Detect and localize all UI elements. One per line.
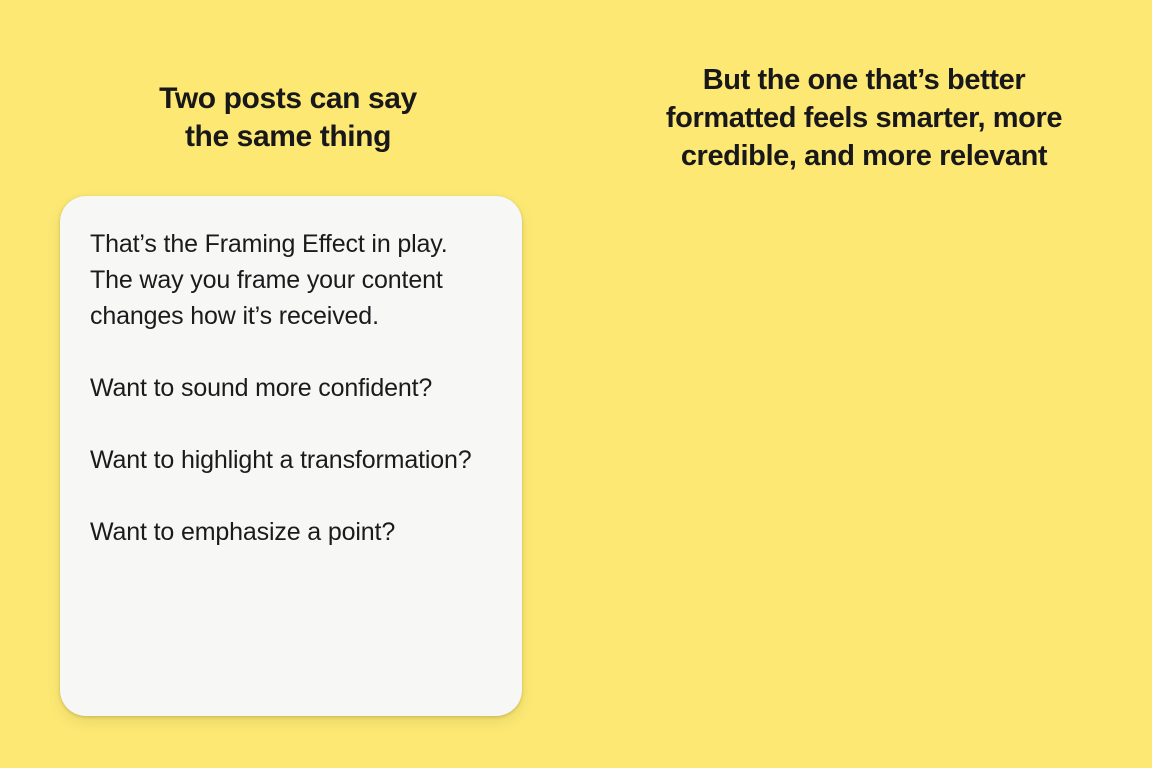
right-heading: But the one that’s better formatted feel…	[576, 61, 1152, 175]
left-paragraph-2: Want to sound more confident?	[90, 370, 494, 406]
right-column: But the one that’s better formatted feel…	[576, 0, 1152, 768]
left-paragraph-4: Want to emphasize a point?	[90, 514, 494, 550]
left-heading: Two posts can say the same thing	[0, 80, 576, 156]
slide-canvas: Two posts can say the same thing That’s …	[0, 0, 1152, 768]
unformatted-post-card: That’s the Framing Effect in play. The w…	[60, 196, 522, 716]
left-paragraph-3: Want to highlight a transformation?	[90, 442, 494, 478]
left-column: Two posts can say the same thing That’s …	[0, 0, 576, 768]
left-paragraph-1: That’s the Framing Effect in play. The w…	[90, 226, 494, 334]
